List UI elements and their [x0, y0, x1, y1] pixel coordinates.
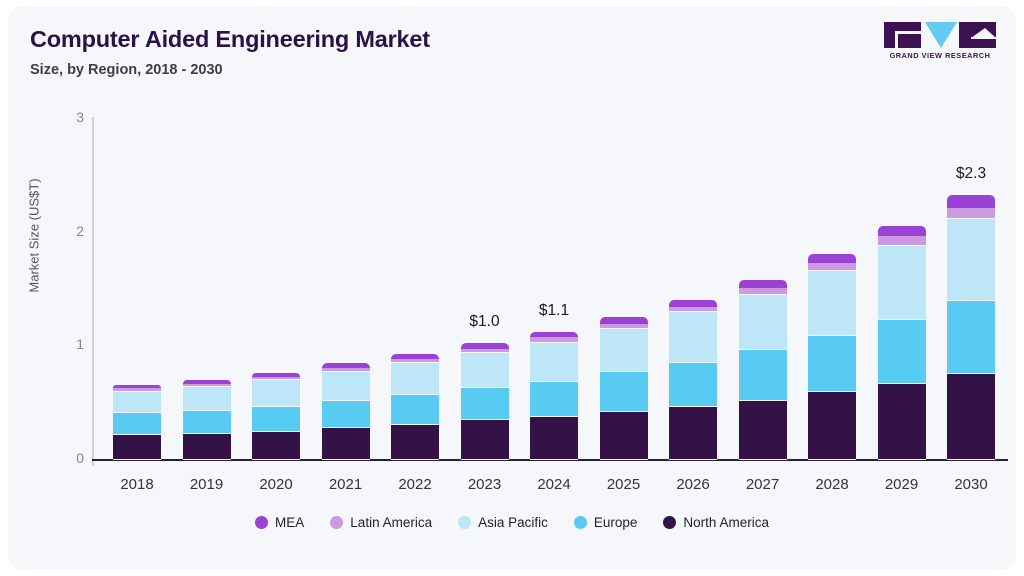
- bar-segment-north-america[interactable]: [600, 411, 648, 460]
- chart-card: Computer Aided Engineering Market Size, …: [8, 6, 1016, 570]
- data-label-2024: $1.1: [509, 302, 599, 320]
- bar-segment-latin-america[interactable]: [530, 336, 578, 343]
- bar-segment-europe[interactable]: [252, 406, 300, 432]
- bar-segment-mea[interactable]: [878, 226, 926, 236]
- legend-label: Asia Pacific: [478, 515, 548, 530]
- bar-segment-latin-america[interactable]: [739, 287, 787, 295]
- legend-swatch-icon: [458, 516, 471, 529]
- bar-segment-mea[interactable]: [669, 300, 717, 307]
- bar-segment-north-america[interactable]: [113, 434, 161, 460]
- bar-segment-asia-pacific[interactable]: [183, 386, 231, 411]
- bar-segment-europe[interactable]: [461, 387, 509, 420]
- bar-segment-asia-pacific[interactable]: [252, 379, 300, 406]
- legend-label: Europe: [594, 515, 638, 530]
- bar-segment-mea[interactable]: [252, 373, 300, 378]
- bar-segment-latin-america[interactable]: [808, 262, 856, 271]
- bar-segment-asia-pacific[interactable]: [391, 362, 439, 395]
- bar-segment-asia-pacific[interactable]: [808, 270, 856, 336]
- bar-segment-latin-america[interactable]: [669, 306, 717, 313]
- bar-segment-europe[interactable]: [878, 319, 926, 384]
- x-axis-tick-2019: 2019: [172, 476, 242, 493]
- bar-segment-north-america[interactable]: [947, 373, 995, 460]
- bar-segment-north-america[interactable]: [461, 419, 509, 460]
- legend-item-latin-america[interactable]: Latin America: [330, 515, 432, 530]
- bar-segment-europe[interactable]: [600, 371, 648, 412]
- legend-swatch-icon: [574, 516, 587, 529]
- legend-swatch-icon: [255, 516, 268, 529]
- x-axis-tick-2030: 2030: [936, 476, 1006, 493]
- bar-segment-mea[interactable]: [530, 332, 578, 338]
- bar-segment-mea[interactable]: [183, 380, 231, 383]
- bar-segment-europe[interactable]: [947, 300, 995, 374]
- bar-segment-latin-america[interactable]: [947, 207, 995, 219]
- x-axis-tick-2021: 2021: [311, 476, 381, 493]
- bar-segment-asia-pacific[interactable]: [530, 342, 578, 382]
- bar-segment-europe[interactable]: [113, 412, 161, 435]
- bar-segment-mea[interactable]: [322, 363, 370, 368]
- y-axis-tick-2: 2: [56, 223, 84, 239]
- y-axis-line: [92, 117, 94, 466]
- bar-segment-mea[interactable]: [808, 254, 856, 263]
- bar-segment-latin-america[interactable]: [113, 387, 161, 391]
- bar-segment-asia-pacific[interactable]: [600, 328, 648, 372]
- bar-segment-europe[interactable]: [183, 410, 231, 434]
- bar-segment-north-america[interactable]: [808, 391, 856, 460]
- x-axis-tick-2018: 2018: [102, 476, 172, 493]
- bar-segment-mea[interactable]: [739, 280, 787, 288]
- x-axis-tick-2022: 2022: [380, 476, 450, 493]
- bar-segment-north-america[interactable]: [530, 416, 578, 460]
- bar-segment-mea[interactable]: [947, 195, 995, 208]
- bar-segment-europe[interactable]: [669, 362, 717, 406]
- data-label-2030: $2.3: [926, 165, 1016, 183]
- bar-segment-asia-pacific[interactable]: [739, 294, 787, 350]
- legend-item-north-america[interactable]: North America: [663, 515, 769, 530]
- bar-segment-asia-pacific[interactable]: [322, 372, 370, 401]
- bar-segment-mea[interactable]: [600, 317, 648, 324]
- y-axis-tick-3: 3: [56, 109, 84, 125]
- bar-segment-mea[interactable]: [461, 343, 509, 349]
- x-axis-tick-2025: 2025: [589, 476, 659, 493]
- chart-legend: MEALatin AmericaAsia PacificEuropeNorth …: [8, 515, 1016, 530]
- bar-segment-latin-america[interactable]: [600, 323, 648, 330]
- bar-segment-mea[interactable]: [391, 354, 439, 359]
- legend-swatch-icon: [330, 516, 343, 529]
- bar-segment-asia-pacific[interactable]: [878, 245, 926, 320]
- x-axis-tick-2024: 2024: [519, 476, 589, 493]
- x-axis-tick-2027: 2027: [728, 476, 798, 493]
- bar-segment-asia-pacific[interactable]: [113, 391, 161, 414]
- bar-segment-europe[interactable]: [530, 381, 578, 417]
- x-axis-tick-2028: 2028: [797, 476, 867, 493]
- x-axis-tick-2026: 2026: [658, 476, 728, 493]
- x-axis-tick-2029: 2029: [867, 476, 937, 493]
- bar-segment-north-america[interactable]: [252, 431, 300, 460]
- bar-segment-north-america[interactable]: [391, 424, 439, 460]
- bar-segment-asia-pacific[interactable]: [947, 218, 995, 301]
- legend-item-mea[interactable]: MEA: [255, 515, 304, 530]
- y-axis-tick-0: 0: [56, 450, 84, 466]
- bar-segment-europe[interactable]: [391, 394, 439, 425]
- bar-segment-north-america[interactable]: [878, 383, 926, 460]
- bar-segment-north-america[interactable]: [183, 433, 231, 460]
- bar-segment-europe[interactable]: [808, 335, 856, 392]
- bar-segment-europe[interactable]: [322, 400, 370, 428]
- legend-swatch-icon: [663, 516, 676, 529]
- legend-label: North America: [683, 515, 769, 530]
- bar-segment-asia-pacific[interactable]: [461, 352, 509, 388]
- bar-segment-europe[interactable]: [739, 349, 787, 401]
- legend-label: MEA: [275, 515, 304, 530]
- y-axis-tick-1: 1: [56, 336, 84, 352]
- bar-segment-asia-pacific[interactable]: [669, 311, 717, 363]
- legend-item-europe[interactable]: Europe: [574, 515, 638, 530]
- legend-label: Latin America: [350, 515, 432, 530]
- bar-segment-latin-america[interactable]: [878, 235, 926, 246]
- bar-segment-north-america[interactable]: [322, 427, 370, 460]
- bar-segment-mea[interactable]: [113, 385, 161, 388]
- bar-segment-north-america[interactable]: [669, 406, 717, 460]
- stacked-bar-chart: Market Size (US$T) 0123 2018201920202021…: [8, 6, 1016, 570]
- legend-item-asia-pacific[interactable]: Asia Pacific: [458, 515, 548, 530]
- x-axis-tick-2020: 2020: [241, 476, 311, 493]
- bar-segment-north-america[interactable]: [739, 400, 787, 460]
- y-axis-label: Market Size (US$T): [27, 146, 42, 326]
- x-axis-tick-2023: 2023: [450, 476, 520, 493]
